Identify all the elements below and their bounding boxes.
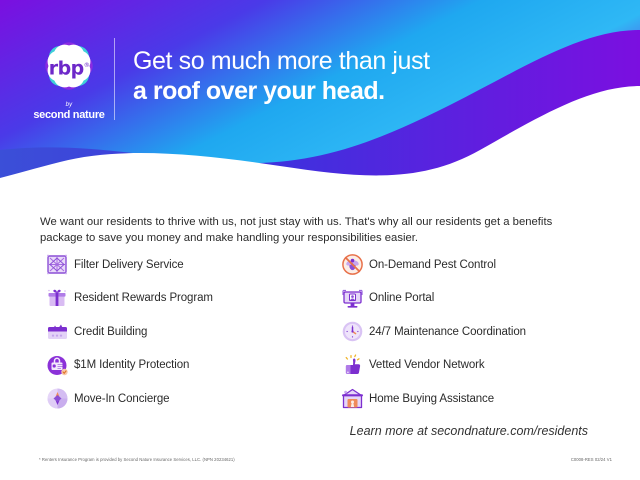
benefit-label: Resident Rewards Program [74,292,213,304]
headline-line-1: Get so much more than just [133,46,430,76]
house-keys-icon [335,385,369,413]
compass-icon [40,385,74,413]
monitor-portal-icon [335,284,369,312]
learn-more-text[interactable]: Learn more at secondnature.com/residents [350,424,588,438]
headline-line-2: a roof over your head. [133,76,430,107]
benefit-label: Move-In Concierge [74,393,169,405]
benefit-label: 24/7 Maintenance Coordination [369,326,526,338]
logo-divider [114,38,115,120]
hero-banner: rbp® by second nature Get so much more t… [0,0,640,182]
benefit-resident-rewards-program: Resident Rewards Program [40,282,335,316]
benefits-column-left: Filter Delivery Service Resident Rewards… [40,248,335,416]
rbp-logo-lockup: rbp® by second nature [33,38,105,120]
credit-card-stars-icon [40,318,74,346]
clock-icon [335,318,369,346]
thumbs-up-icon [335,351,369,379]
benefit-online-portal: Online Portal [335,282,600,316]
footnote-disclaimer: * Renters Insurance Program is provided … [39,457,235,462]
benefit-label: Home Buying Assistance [369,393,494,405]
gift-box-icon [40,284,74,312]
benefit-maintenance-coordination: 24/7 Maintenance Coordination [335,315,600,349]
benefit-filter-delivery-service: Filter Delivery Service [40,248,335,282]
benefit-pest-control: On-Demand Pest Control [335,248,600,282]
benefit-credit-building: Credit Building [40,315,335,349]
benefit-label: Online Portal [369,292,434,304]
logo-subtitle-by: by [66,102,73,108]
briefcase-lock-icon [40,351,74,379]
benefit-vetted-vendor-network: Vetted Vendor Network [335,349,600,383]
document-code: C0008-RES 02/24 V1 [571,457,612,462]
intro-paragraph: We want our residents to thrive with us,… [40,214,590,246]
benefits-list: Filter Delivery Service Resident Rewards… [40,248,600,416]
rbp-logo-mark: rbp® [39,38,99,94]
marketing-flyer: rbp® by second nature Get so much more t… [0,0,640,480]
no-pest-icon [335,251,369,279]
logo-subtitle: by second nature [33,94,105,121]
benefit-label: Filter Delivery Service [74,259,184,271]
logo-wordmark: rbp® [39,46,99,88]
benefit-home-buying-assistance: Home Buying Assistance [335,382,600,416]
benefit-identity-protection: $1M Identity Protection [40,349,335,383]
benefit-label: On-Demand Pest Control [369,259,496,271]
logo-wordmark-text: rbp [49,57,84,79]
hero-headline: Get so much more than just a roof over y… [133,46,430,107]
logo-trademark-symbol: ® [84,62,90,69]
benefit-move-in-concierge: Move-In Concierge [40,382,335,416]
air-filter-icon [40,251,74,279]
benefit-label: Vetted Vendor Network [369,359,485,371]
benefit-label: $1M Identity Protection [74,359,189,371]
logo-subtitle-name: second nature [33,110,105,122]
benefits-column-right: On-Demand Pest Control Online Por [335,248,600,416]
benefit-label: Credit Building [74,326,147,338]
